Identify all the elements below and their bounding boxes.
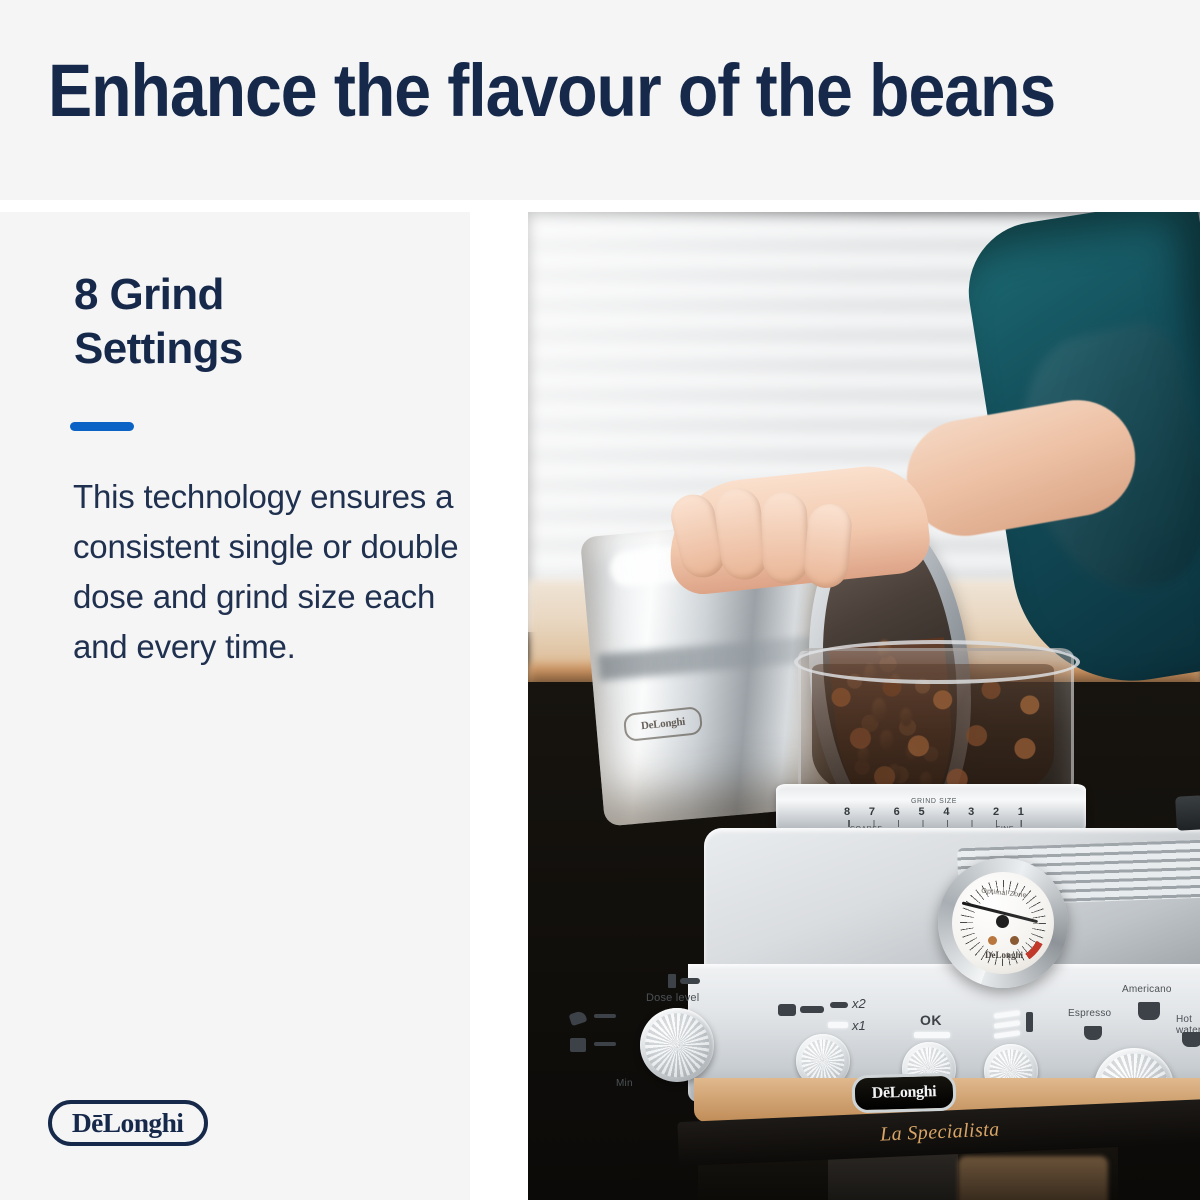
header-divider-gutter: [0, 200, 1200, 212]
accent-divider: [70, 422, 134, 431]
grind-size-label: GRIND SIZE: [844, 798, 1024, 805]
grind-number: 6: [894, 806, 900, 818]
ok-led: [914, 1032, 950, 1038]
water-tank-tab: [1175, 795, 1200, 830]
machine-brand-badge-text: DēLonghi: [872, 1083, 937, 1103]
grind-number: 2: [993, 806, 999, 818]
header-band: Enhance the flavour of the beans: [0, 0, 1200, 200]
grinder-icon-dash: [594, 1042, 616, 1046]
shot-x1-led: [828, 1022, 848, 1028]
cup-area: [958, 1156, 1108, 1200]
dose-level-icon: [668, 974, 676, 988]
hopper-rim: [794, 640, 1080, 684]
gauge-indicator-light: [988, 936, 997, 945]
feature-title: 8 Grind Settings: [74, 268, 404, 376]
finger: [760, 491, 809, 585]
shot-x2-marker: [830, 1002, 848, 1008]
product-photo: DeLonghi GRIND SIZE 8: [528, 212, 1200, 1200]
ok-label: OK: [920, 1012, 942, 1028]
pressure-gauge-hub: [996, 915, 1009, 928]
cup-icon-bar: [800, 1006, 824, 1013]
espresso-label: Espresso: [1068, 1008, 1111, 1019]
machine-brand-badge: DēLonghi: [852, 1073, 957, 1114]
grind-number: 8: [844, 806, 850, 818]
americano-cup-icon: [1138, 1002, 1160, 1020]
canister-logo-text: DeLonghi: [640, 716, 685, 733]
promo-banner: Enhance the flavour of the beans 8 Grind…: [0, 0, 1200, 1200]
grind-number: 3: [968, 806, 974, 818]
delonghi-logo-text: DēLonghi: [72, 1110, 183, 1137]
grind-number: 5: [918, 806, 924, 818]
dose-level-icon-bar: [680, 978, 700, 984]
grind-size-scale: GRIND SIZE 8 7 6 5 4 3 2 1 COARSE FINE: [844, 798, 1024, 832]
gauge-indicator-light: [1010, 936, 1019, 945]
shot-x1-label: x1: [852, 1018, 866, 1033]
feature-body: This technology ensures a consistent sin…: [73, 472, 473, 672]
grind-size-numbers: 8 7 6 5 4 3 2 1: [844, 806, 1024, 818]
grind-number: 1: [1018, 806, 1024, 818]
delonghi-logo: DēLonghi: [48, 1100, 208, 1146]
espresso-cup-icon: [1084, 1026, 1102, 1040]
grind-number: 7: [869, 806, 875, 818]
dose-level-knob[interactable]: [640, 1008, 714, 1082]
portafilter: [828, 1152, 958, 1200]
americano-label: Americano: [1122, 984, 1172, 995]
shot-x2-label: x2: [852, 996, 866, 1011]
portafilter-icon-dash: [594, 1014, 616, 1018]
page-title: Enhance the flavour of the beans: [48, 48, 1041, 134]
steam-wand-icon: [1026, 1012, 1033, 1032]
gauge-brand-text: DeLonghi: [972, 950, 1036, 960]
grind-number: 4: [943, 806, 949, 818]
min-label: Min: [616, 1078, 633, 1089]
column-gutter: [470, 200, 528, 1200]
hot-water-cup-icon: [1182, 1032, 1200, 1047]
cup-icon: [778, 1004, 796, 1016]
dose-level-label: Dose level: [646, 992, 699, 1004]
grinder-icon: [570, 1038, 586, 1052]
